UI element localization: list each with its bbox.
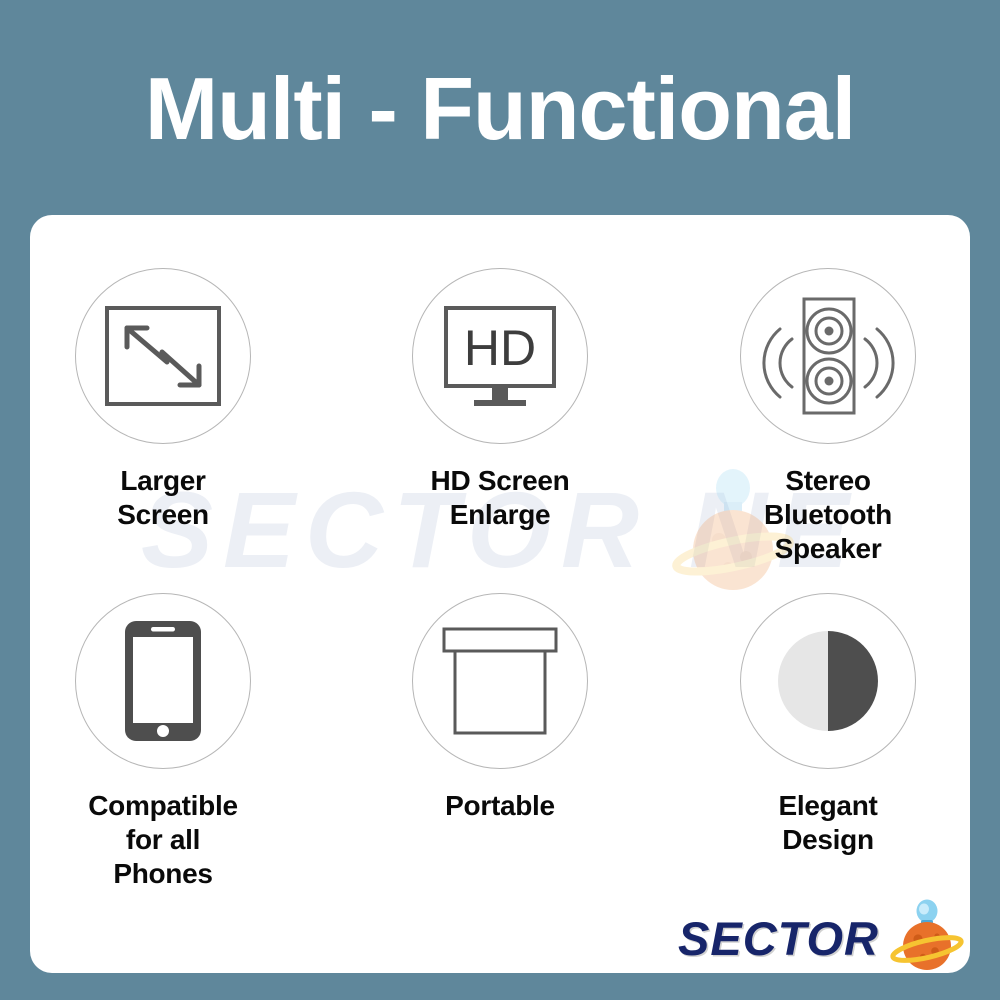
feature-label: Larger Screen <box>30 464 313 532</box>
feature-item-stereo-bluetooth-speaker[interactable]: Stereo Bluetooth Speaker <box>678 268 970 566</box>
feature-grid: Larger Screen HD HD Screen Enlarge <box>30 215 970 973</box>
brand-logo[interactable]: SECTORNE <box>678 900 970 972</box>
feature-label: HD Screen Enlarge <box>350 464 650 532</box>
icon-circle <box>740 593 916 769</box>
icon-circle: HD <box>412 268 588 444</box>
feature-item-compatible-phones[interactable]: Compatible for all Phones <box>30 593 313 891</box>
feature-item-portable[interactable]: Portable <box>350 593 650 823</box>
icon-circle <box>412 593 588 769</box>
page-title: Multi - Functional <box>0 58 1000 160</box>
contrast-circle-icon <box>774 627 882 735</box>
planet-astronaut-icon <box>888 898 966 973</box>
projector-screen-icon <box>438 623 562 739</box>
feature-item-elegant-design[interactable]: Elegant Design <box>678 593 970 857</box>
hd-monitor-icon: HD <box>438 300 562 412</box>
logo-word-sector: SECTOR <box>678 912 879 965</box>
feature-label: Stereo Bluetooth Speaker <box>678 464 970 566</box>
feature-item-larger-screen[interactable]: Larger Screen <box>30 268 313 532</box>
feature-label: Elegant Design <box>678 789 970 857</box>
stereo-speaker-icon <box>761 293 895 419</box>
smartphone-icon <box>122 618 204 744</box>
hd-label: HD <box>464 320 536 376</box>
feature-label: Compatible for all Phones <box>30 789 313 891</box>
feature-label: Portable <box>350 789 650 823</box>
feature-card: SECTOR NE Larger Screen <box>30 215 970 973</box>
icon-circle <box>75 268 251 444</box>
feature-item-hd-screen-enlarge[interactable]: HD HD Screen Enlarge <box>350 268 650 532</box>
icon-circle <box>75 593 251 769</box>
icon-circle <box>740 268 916 444</box>
expand-screen-icon <box>98 300 228 412</box>
